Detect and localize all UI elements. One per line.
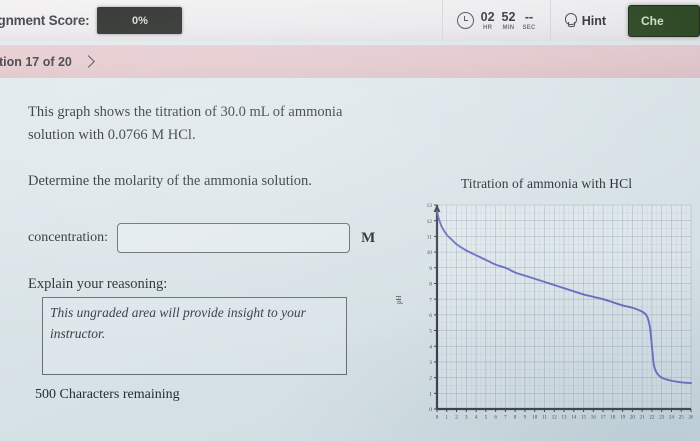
hint-label: Hint [582,14,606,28]
svg-text:6: 6 [429,313,432,319]
svg-text:22: 22 [649,416,655,421]
check-answer-label: Che [641,14,664,28]
svg-text:3: 3 [429,360,432,366]
concentration-input[interactable] [117,223,350,253]
svg-text:18: 18 [610,416,616,421]
svg-text:13: 13 [427,203,433,209]
svg-text:14: 14 [571,416,577,421]
lightbulb-icon [565,13,576,28]
assignment-score-label: ignment Score: [0,13,89,28]
question-prompt-line2: solution with 0.0766 M HCl. [28,124,388,147]
svg-text:0: 0 [436,416,439,421]
svg-text:7: 7 [429,297,432,303]
characters-remaining: 500 Characters remaining [35,387,180,403]
timer-hours-value: 02 [481,11,495,23]
timer: 02 HR 52 MIN -- SEC [457,11,536,31]
timer-hours: 02 HR [481,11,495,31]
hint-inner: Hint [565,13,606,28]
question-nav-bar: stion 17 of 20 [0,45,700,78]
svg-text:5: 5 [485,416,488,421]
question-task: Determine the molarity of the ammonia so… [28,170,388,193]
svg-text:3: 3 [465,416,468,421]
svg-text:13: 13 [562,416,568,421]
svg-text:17: 17 [601,416,607,421]
check-answer-button[interactable]: Che [628,5,700,37]
question-content: This graph shows the titration of 30.0 m… [0,78,700,441]
svg-text:19: 19 [620,416,626,421]
svg-text:11: 11 [427,234,432,240]
titration-chart: Titration of ammonia with HCl pH vol HCl… [393,156,700,441]
svg-text:1: 1 [429,391,432,397]
explain-reasoning-textarea[interactable]: This ungraded area will provide insight … [42,297,347,375]
svg-text:6: 6 [494,416,497,421]
timer-seconds-label: SEC [522,25,535,31]
explain-reasoning-placeholder: This ungraded area will provide insight … [50,302,339,344]
svg-text:11: 11 [542,416,547,421]
svg-text:10: 10 [532,416,538,421]
screen: ignment Score: 0% 02 HR 52 MIN [0,0,700,441]
top-bar: ignment Score: 0% 02 HR 52 MIN [0,0,700,41]
svg-text:15: 15 [581,416,587,421]
assignment-score-badge: 0% [97,7,182,34]
svg-text:2: 2 [455,416,458,421]
chart-y-axis-label: pH [395,295,403,304]
timer-seconds-value: -- [522,11,535,23]
svg-text:0: 0 [429,407,432,413]
timer-minutes-label: MIN [502,25,516,31]
svg-text:21: 21 [640,416,646,421]
chart-title: Titration of ammonia with HCl [393,176,700,192]
svg-text:8: 8 [514,416,517,421]
clock-icon [457,12,474,29]
chart-plot-area: 0123456789101112130123456789101112131415… [413,201,693,427]
svg-text:24: 24 [669,416,675,421]
hint-button[interactable]: Hint [550,0,620,41]
svg-text:16: 16 [591,416,597,421]
svg-text:23: 23 [659,416,665,421]
svg-text:9: 9 [524,416,527,421]
question-prompt-line1: This graph shows the titration of 30.0 m… [28,101,388,124]
svg-text:4: 4 [475,416,478,421]
svg-text:12: 12 [427,219,433,225]
concentration-row: concentration: M [28,223,375,253]
timer-seconds: -- SEC [522,11,535,31]
svg-text:20: 20 [630,416,636,421]
svg-text:4: 4 [429,344,432,350]
timer-digits: 02 HR 52 MIN -- SEC [481,11,536,31]
svg-text:9: 9 [429,266,432,272]
svg-text:7: 7 [504,416,507,421]
concentration-label: concentration: [28,230,108,246]
svg-text:8: 8 [429,282,432,288]
chevron-right-icon[interactable] [82,55,95,68]
chart-svg: 0123456789101112130123456789101112131415… [413,201,693,427]
svg-text:26: 26 [689,416,694,421]
timer-minutes: 52 MIN [502,11,516,31]
question-counter: stion 17 of 20 [0,55,72,69]
timer-hours-label: HR [481,25,495,31]
svg-text:25: 25 [679,416,685,421]
svg-text:10: 10 [427,250,433,256]
timer-minutes-value: 52 [502,11,516,23]
svg-text:2: 2 [429,376,432,382]
question-prompt: This graph shows the titration of 30.0 m… [28,101,388,147]
assignment-score-value: 0% [132,15,148,27]
top-bar-right: 02 HR 52 MIN -- SEC [442,0,700,41]
concentration-unit: M [361,230,375,247]
timer-cell: 02 HR 52 MIN -- SEC [442,0,550,41]
svg-text:5: 5 [429,329,432,335]
svg-text:1: 1 [446,416,449,421]
explain-reasoning-label: Explain your reasoning: [28,276,167,293]
svg-text:12: 12 [552,416,558,421]
